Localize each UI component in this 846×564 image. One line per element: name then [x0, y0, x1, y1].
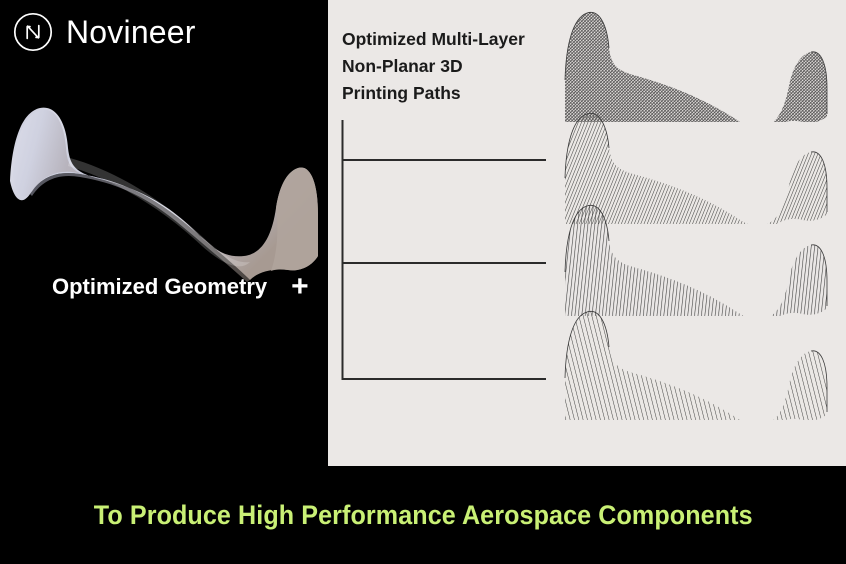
promo-graphic-canvas: Novineer	[0, 0, 846, 564]
plus-icon: +	[291, 272, 309, 302]
bracket-connector-icon	[338, 120, 563, 385]
geometry-caption-row: Optimized Geometry +	[52, 272, 309, 302]
brand-name: Novineer	[66, 16, 196, 48]
footer-tagline: To Produce High Performance Aerospace Co…	[94, 500, 753, 531]
panel-heading-line-1: Optimized Multi-Layer	[342, 26, 562, 53]
toolpath-gallery	[553, 0, 846, 440]
panel-heading-line-2: Non-Planar 3D	[342, 53, 562, 80]
panel-heading: Optimized Multi-Layer Non-Planar 3D Prin…	[342, 26, 562, 107]
novineer-circle-n-logo-icon	[12, 11, 54, 53]
optimized-geometry-label: Optimized Geometry	[52, 276, 267, 298]
toolpaths-panel: Optimized Multi-Layer Non-Planar 3D Prin…	[328, 0, 846, 466]
brand-lockup: Novineer	[12, 11, 196, 53]
toolpath-layer-4-icon	[553, 300, 846, 420]
optimized-shell-geometry-render-icon	[0, 96, 328, 286]
toolpath-layer-3-icon	[553, 196, 846, 316]
panel-heading-line-3: Printing Paths	[342, 80, 562, 107]
footer-tagline-bar: To Produce High Performance Aerospace Co…	[0, 466, 846, 564]
